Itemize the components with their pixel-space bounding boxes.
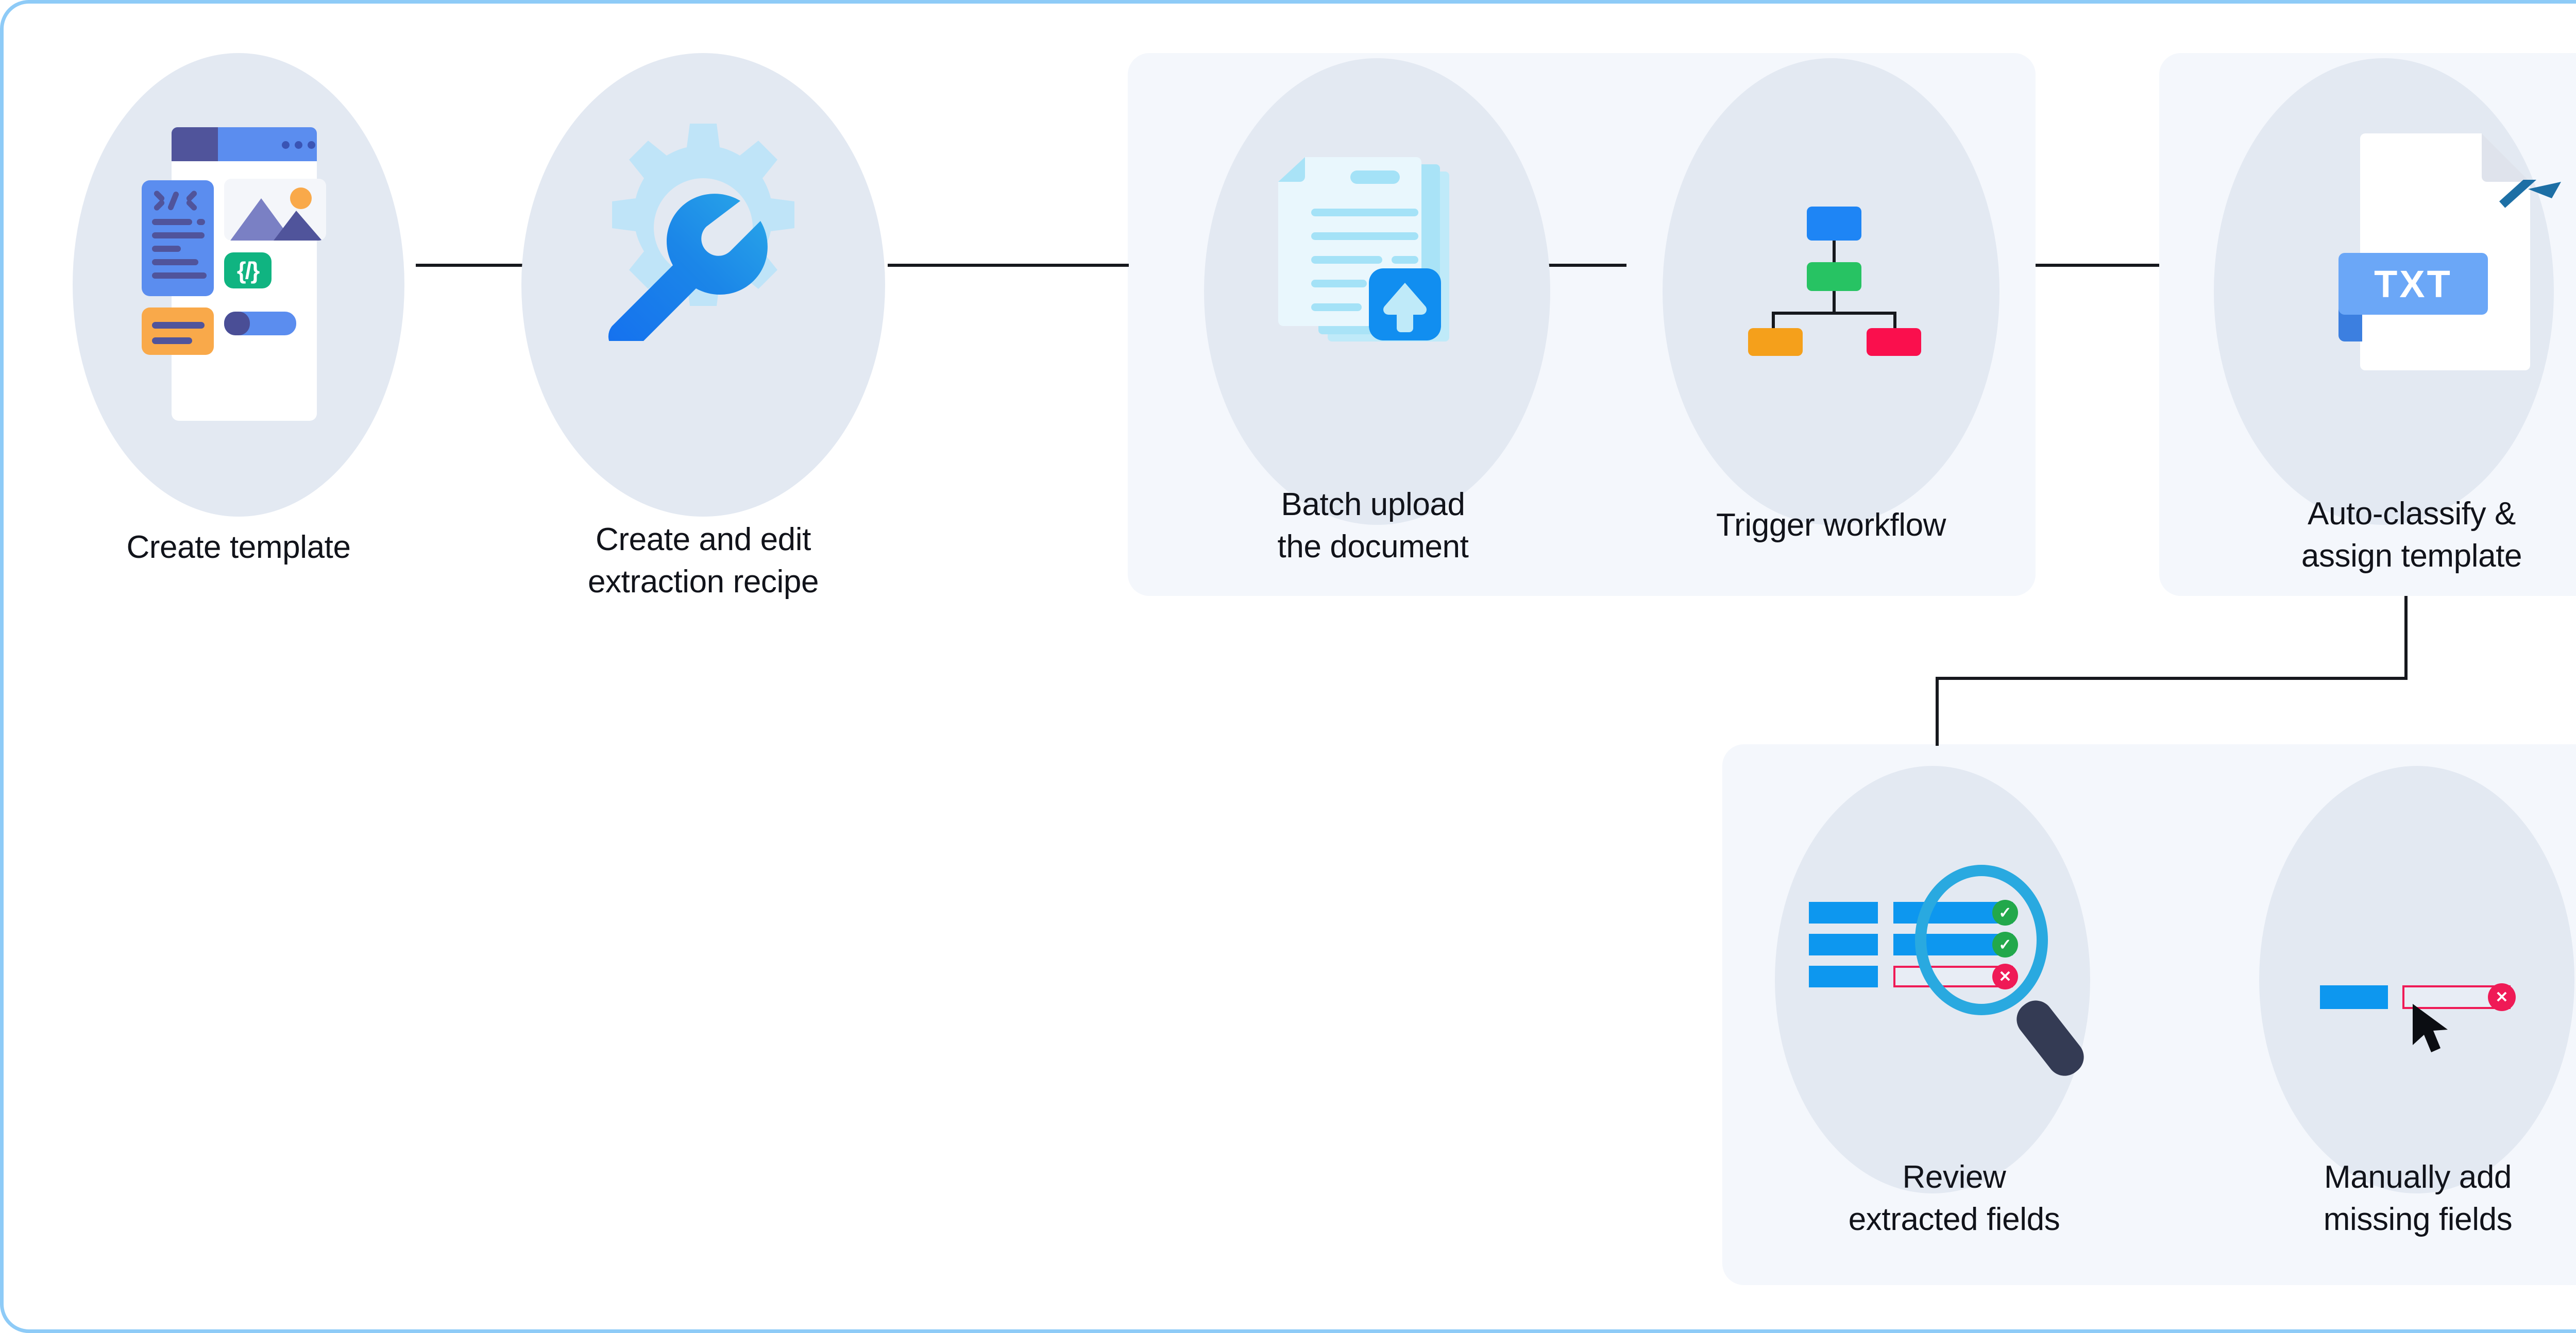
workflow-box-leaf-left (1748, 328, 1803, 356)
connector-recipe-to-batch-upload (888, 264, 1129, 267)
node-label: Create template (63, 526, 414, 569)
workflow-box-root (1807, 207, 1861, 241)
connector-classify-elbow-down (2404, 596, 2408, 679)
workflow-box-leaf-right (1867, 328, 1921, 356)
diagram-canvas: {/} Create template (0, 0, 2576, 1333)
workflow-box-middle (1807, 262, 1861, 291)
gear-wrench-icon (590, 114, 817, 341)
connector-classify-elbow-across (1936, 677, 2408, 680)
node-manual-fields[interactable]: ✕ Manually add missing fields (2186, 744, 2576, 1285)
template-builder-icon: {/} (142, 127, 337, 444)
mouse-cursor-icon (2411, 1003, 2457, 1059)
node-label: Auto-classify & assign template (2180, 493, 2576, 578)
connector-classify-elbow-into-review (1936, 677, 1939, 746)
magnifier-review-icon: ✓ ✓ ✕ (1809, 869, 2097, 1085)
node-create-template[interactable]: {/} Create template (63, 35, 414, 591)
connector-trigger-to-classify (2036, 264, 2159, 267)
node-auto-classify[interactable]: TXT Auto-classify & assign template (2159, 35, 2576, 601)
node-extraction-recipe[interactable]: Create and edit extraction recipe (519, 35, 888, 601)
txt-extension-badge: TXT (2338, 253, 2488, 315)
node-review-fields[interactable]: ✓ ✓ ✕ Review extracted fields (1722, 744, 2186, 1285)
node-label: Batch upload the document (1167, 484, 1579, 569)
magnifier-lens (1915, 865, 2048, 1015)
node-label: Trigger workflow (1626, 504, 2036, 546)
node-trigger-workflow[interactable]: Trigger workflow (1626, 35, 2036, 591)
document-upload-icon (1274, 151, 1482, 378)
node-label: Review extracted fields (1722, 1156, 2186, 1241)
node-label: Manually add missing fields (2186, 1156, 2576, 1241)
node-batch-upload[interactable]: Batch upload the document (1167, 35, 1579, 591)
workflow-tree-icon (1750, 184, 1920, 354)
node-label: Create and edit extraction recipe (519, 519, 888, 604)
cursor-field-icon: ✕ (2320, 940, 2536, 1043)
status-badge-missing: ✕ (2488, 983, 2516, 1011)
txt-file-classify-icon: TXT (2293, 126, 2576, 394)
